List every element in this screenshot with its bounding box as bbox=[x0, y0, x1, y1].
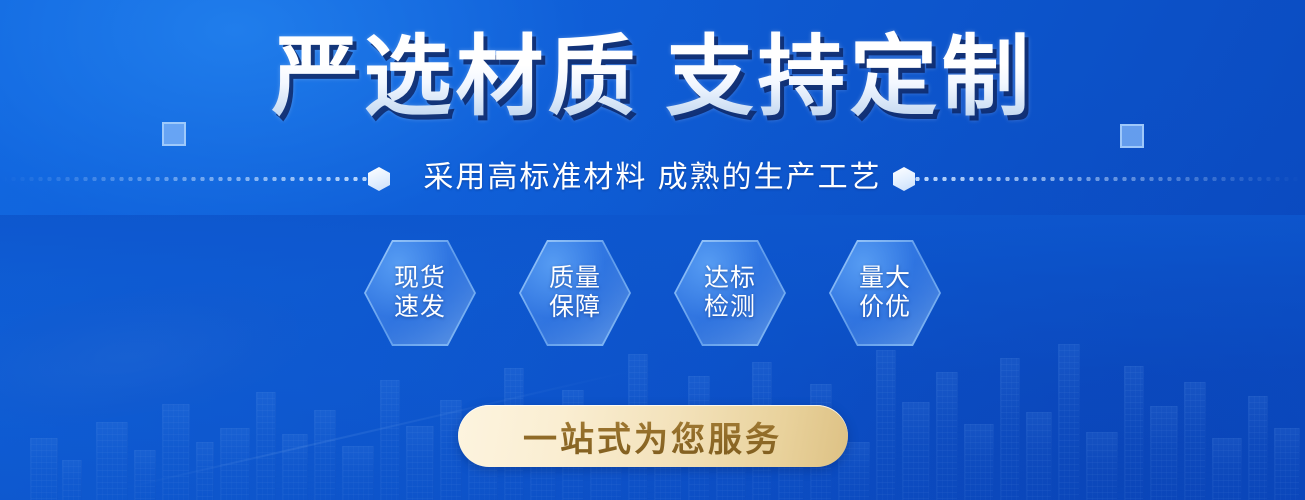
headline-part-1: 严选材质 bbox=[271, 27, 639, 126]
feature-badge-line-2: 速发 bbox=[394, 293, 446, 323]
decorative-square-left bbox=[162, 122, 186, 146]
cta-button-label: 一站式为您服务 bbox=[523, 412, 782, 461]
feature-badge-list: 现货 速发 质量 保障 达标 检测 量大 价优 bbox=[0, 240, 1305, 346]
feature-badge-label: 达标 检测 bbox=[704, 264, 756, 323]
feature-badge-line-2: 价优 bbox=[859, 293, 911, 323]
feature-badge-label: 质量 保障 bbox=[549, 264, 601, 323]
banner-subtitle: 采用高标准材料 成熟的生产工艺 bbox=[0, 152, 1305, 196]
promo-banner: 严选材质支持定制 采用高标准材料 成熟的生产工艺 现货 速发 质量 保障 达标 bbox=[0, 0, 1305, 500]
feature-badge-line-2: 检测 bbox=[704, 293, 756, 323]
feature-badge-line-2: 保障 bbox=[549, 293, 601, 323]
feature-badge-standards-testing[interactable]: 达标 检测 bbox=[674, 240, 786, 346]
feature-badge-line-1: 达标 bbox=[704, 264, 756, 294]
banner-headline: 严选材质支持定制 bbox=[0, 30, 1305, 123]
feature-badge-stock-shipping[interactable]: 现货 速发 bbox=[364, 240, 476, 346]
one-stop-service-button[interactable]: 一站式为您服务 bbox=[458, 405, 848, 467]
feature-badge-line-1: 质量 bbox=[549, 264, 601, 294]
feature-badge-bulk-discount[interactable]: 量大 价优 bbox=[829, 240, 941, 346]
decorative-square-right bbox=[1120, 124, 1144, 148]
cta-container: 一站式为您服务 bbox=[0, 405, 1305, 467]
headline-part-2: 支持定制 bbox=[666, 27, 1034, 126]
feature-badge-label: 现货 速发 bbox=[394, 264, 446, 323]
feature-badge-line-1: 现货 bbox=[394, 264, 446, 294]
feature-badge-label: 量大 价优 bbox=[859, 264, 911, 323]
feature-badge-line-1: 量大 bbox=[859, 264, 911, 294]
feature-badge-quality-assurance[interactable]: 质量 保障 bbox=[519, 240, 631, 346]
